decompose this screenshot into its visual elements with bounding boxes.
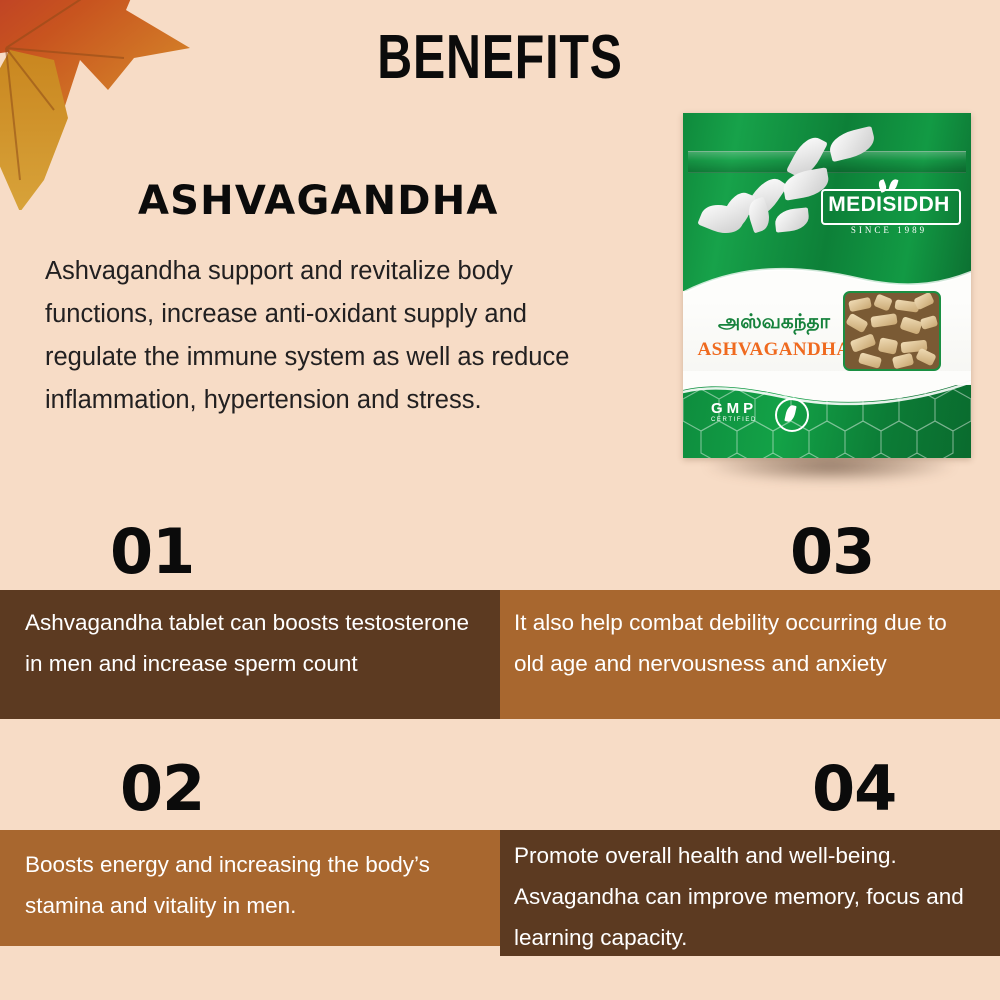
- product-pouch-image: MEDISIDDH SINCE 1989 அஸ்வகந்தா ASHVAGAND…: [683, 113, 971, 473]
- product-description: Ashvagandha support and revitalize body …: [45, 250, 580, 422]
- product-name-english: ASHVAGANDHA: [697, 339, 851, 361]
- benefit-number-04: 04: [812, 752, 896, 825]
- benefit-text-02: Boosts energy and increasing the body’s …: [0, 830, 500, 946]
- gmp-certification-badge: GMP CERTIFIED: [711, 401, 767, 429]
- product-name-tamil: அஸ்வகந்தா: [699, 309, 849, 336]
- benefit-number-03: 03: [790, 515, 874, 588]
- benefit-text-01: Ashvagandha tablet can boosts testostero…: [0, 590, 500, 719]
- benefit-text-03: It also help combat debility occurring d…: [500, 590, 1000, 719]
- benefit-number-01: 01: [110, 515, 194, 588]
- product-heading: ASHVAGANDHA: [138, 178, 499, 224]
- brand-name: MEDISIDDH: [821, 191, 957, 219]
- benefit-text-04: Promote overall health and well-being. A…: [500, 830, 1000, 956]
- pouch: MEDISIDDH SINCE 1989 அஸ்வகந்தா ASHVAGAND…: [683, 113, 971, 458]
- gmp-subtext: CERTIFIED: [711, 417, 767, 423]
- page-title: BENEFITS: [110, 22, 890, 93]
- herb-photo: [843, 291, 941, 371]
- organic-leaf-icon: [775, 398, 809, 432]
- gmp-letters: GMP: [711, 401, 767, 417]
- brand-since: SINCE 1989: [821, 225, 957, 235]
- benefits-poster: BENEFITS ASHVAGANDHA Ashvagandha support…: [0, 0, 1000, 1000]
- benefit-number-02: 02: [120, 752, 204, 825]
